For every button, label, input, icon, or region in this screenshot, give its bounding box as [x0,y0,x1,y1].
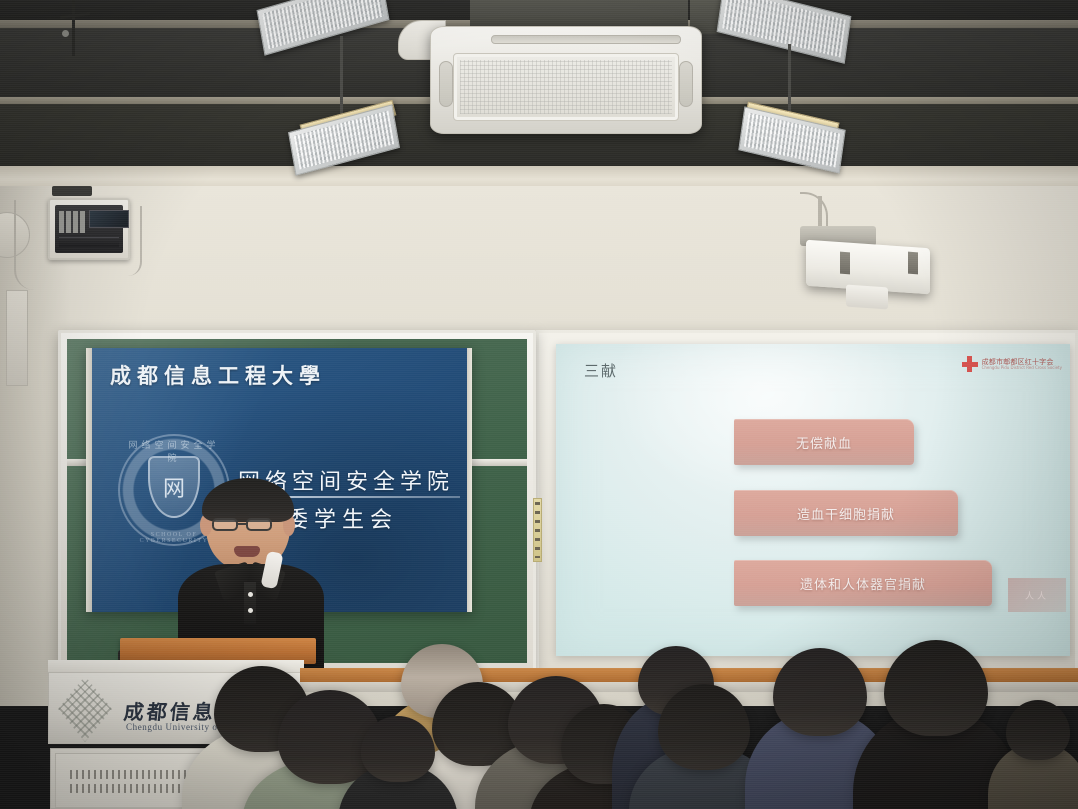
wall-cable [128,206,142,276]
speaker-eyebrow-right [248,513,270,516]
projection-screen: 三献 成都市郫都区红十字会 Chengdu Pidu District Red … [556,344,1070,656]
slide-item-3: 遗体和人体器官捐献 [734,560,992,606]
panel-display [89,210,129,228]
cabinet-vent [70,784,190,793]
banner-university-name: 成都信息工程大學 [110,360,326,390]
light-stem [340,36,343,120]
red-cross-icon [962,356,978,372]
banner-hem-right [467,348,472,612]
polo-button-bottom [248,608,253,613]
panel-bracket [52,186,92,196]
audience-head [884,640,988,736]
slide-corner-mark: 人人 [1008,578,1066,612]
red-cross-org-en: Chengdu Pidu District Red Cross Society [982,366,1062,371]
audience-head [361,716,435,782]
ac-vent-left [439,61,453,107]
slide-item-1: 无偿献血 [734,419,914,465]
projector-vent-left [840,252,850,275]
red-cross-logo-group: 成都市郫都区红十字会 Chengdu Pidu District Red Cro… [962,356,1062,372]
ac-vent-right [679,61,693,107]
audience-head [658,684,750,770]
banner-hem-left [86,348,92,612]
polo-button-top [248,592,253,597]
light-stem [788,44,791,120]
ac-intake-slot [491,35,681,44]
panel-screen [55,205,123,253]
eyeglasses-lens-left [212,518,238,531]
polo-placket [244,582,256,624]
ac-filter-grille [453,53,679,121]
projector-vent-right [908,252,918,275]
red-cross-org-text: 成都市郫都区红十字会 Chengdu Pidu District Red Cro… [982,358,1062,371]
slide-title: 三献 [584,360,618,381]
eyeglasses-bridge [238,523,246,525]
slide-item-2: 造血干细胞捐献 [734,490,958,536]
audience-12 [988,700,1078,809]
speaker-eyebrow-left [214,513,236,516]
cabinet-vent [70,770,190,779]
board-frame-sticker [533,498,542,562]
speaker-mouth [234,546,260,557]
panel-keypad[interactable] [59,211,85,233]
audience-head [1006,700,1070,760]
projector-lens-housing [846,285,888,310]
eyeglasses-lens-right [246,518,272,531]
audience-11 [338,716,458,809]
ceiling-wire [72,0,75,56]
air-conditioner-unit [430,26,702,134]
classroom-photo: 三献 成都市郫都区红十字会 Chengdu Pidu District Red … [0,0,1078,809]
wall-cable [14,200,36,290]
wall-control-panel[interactable] [48,198,130,260]
panel-button-row[interactable] [59,237,119,247]
wall-junction-box [6,290,28,386]
